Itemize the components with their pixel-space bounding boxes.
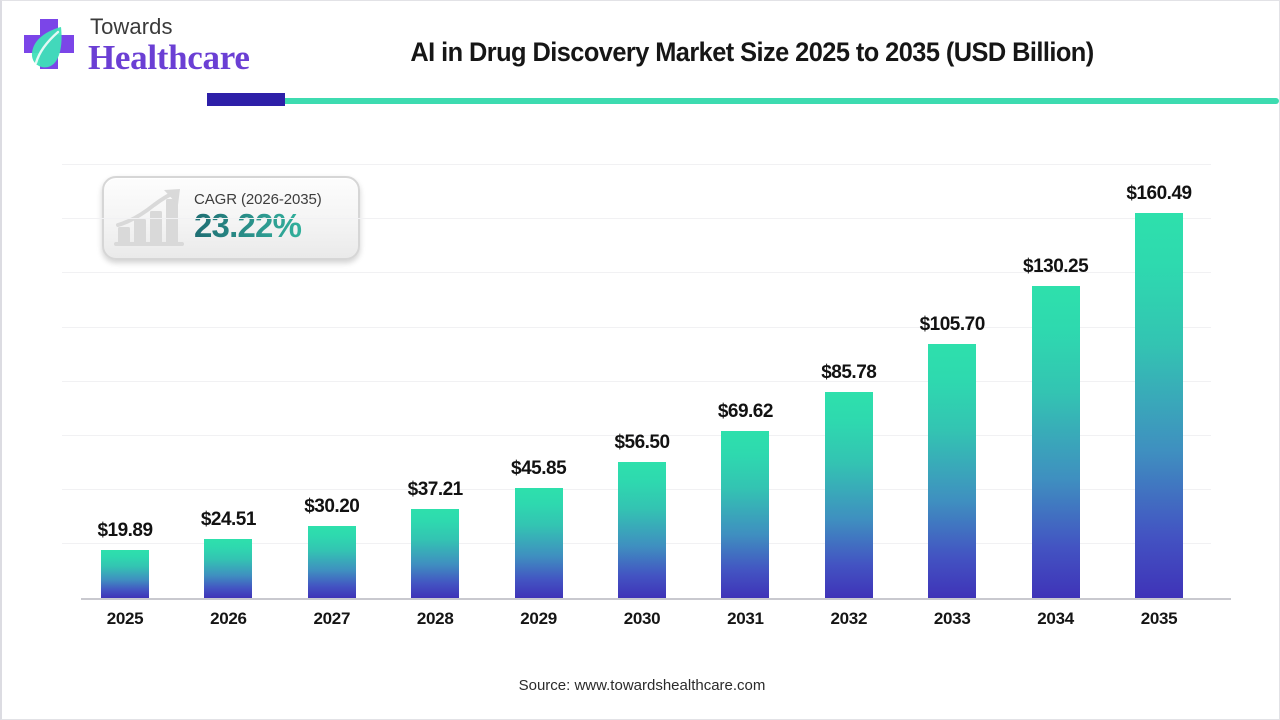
brand-name-line1: Towards [88, 16, 250, 38]
bar[interactable] [618, 462, 666, 598]
bar-value-label: $160.49 [1126, 183, 1191, 205]
x-tick-label: 2027 [297, 609, 367, 629]
bar-group[interactable]: $105.70 [928, 314, 976, 598]
plot-area: $19.89$24.51$30.20$37.21$45.85$56.50$69.… [62, 141, 1222, 599]
x-tick-label: 2029 [504, 609, 574, 629]
brand-logo[interactable]: Towards Healthcare [20, 15, 250, 77]
header-rule-indigo [207, 93, 285, 106]
bar-group[interactable]: $85.78 [825, 362, 873, 598]
bar-value-label: $69.62 [718, 401, 773, 423]
brand-name-line2: Healthcare [88, 40, 250, 75]
bar[interactable] [101, 550, 149, 598]
bar[interactable] [515, 488, 563, 598]
bar-value-label: $37.21 [408, 479, 463, 501]
bar[interactable] [1135, 213, 1183, 598]
bar[interactable] [204, 539, 252, 598]
bar-group[interactable]: $19.89 [101, 520, 149, 598]
x-tick-label: 2034 [1021, 609, 1091, 629]
bar[interactable] [721, 431, 769, 598]
bar-value-label: $30.20 [304, 496, 359, 518]
header: Towards Healthcare AI in Drug Discovery … [2, 1, 1280, 101]
bar-group[interactable]: $130.25 [1032, 256, 1080, 598]
x-tick-label: 2026 [193, 609, 263, 629]
bar-series: $19.89$24.51$30.20$37.21$45.85$56.50$69.… [62, 141, 1222, 599]
medical-cross-leaf-logo-icon [20, 15, 78, 77]
bar-value-label: $56.50 [614, 432, 669, 454]
bar[interactable] [1032, 286, 1080, 598]
bar-value-label: $130.25 [1023, 256, 1088, 278]
bar-value-label: $85.78 [821, 362, 876, 384]
bar-group[interactable]: $37.21 [411, 479, 459, 598]
bar[interactable] [308, 526, 356, 598]
bar[interactable] [928, 344, 976, 598]
bar-value-label: $105.70 [920, 314, 985, 336]
bar[interactable] [411, 509, 459, 598]
chart-page: Towards Healthcare AI in Drug Discovery … [0, 0, 1280, 720]
brand-wordmark: Towards Healthcare [88, 16, 250, 77]
bar-group[interactable]: $160.49 [1135, 183, 1183, 598]
bar-group[interactable]: $45.85 [515, 458, 563, 598]
bar-group[interactable]: $56.50 [618, 432, 666, 598]
x-tick-label: 2028 [400, 609, 470, 629]
bar-value-label: $45.85 [511, 458, 566, 480]
bar-value-label: $19.89 [97, 520, 152, 542]
x-tick-label: 2031 [710, 609, 780, 629]
bar-value-label: $24.51 [201, 509, 256, 531]
x-tick-label: 2025 [90, 609, 160, 629]
x-tick-label: 2035 [1124, 609, 1194, 629]
x-tick-label: 2032 [814, 609, 884, 629]
bar-group[interactable]: $30.20 [308, 496, 356, 598]
page-title: AI in Drug Discovery Market Size 2025 to… [329, 37, 1175, 68]
header-rule-teal [207, 98, 1279, 104]
bar[interactable] [825, 392, 873, 598]
x-tick-label: 2030 [607, 609, 677, 629]
x-axis-tick-labels: 2025202620272028202920302031203220332034… [62, 609, 1222, 637]
bar-group[interactable]: $24.51 [204, 509, 252, 598]
x-tick-label: 2033 [917, 609, 987, 629]
bar-group[interactable]: $69.62 [721, 401, 769, 598]
source-note: Source: www.towardshealthcare.com [2, 677, 1280, 694]
